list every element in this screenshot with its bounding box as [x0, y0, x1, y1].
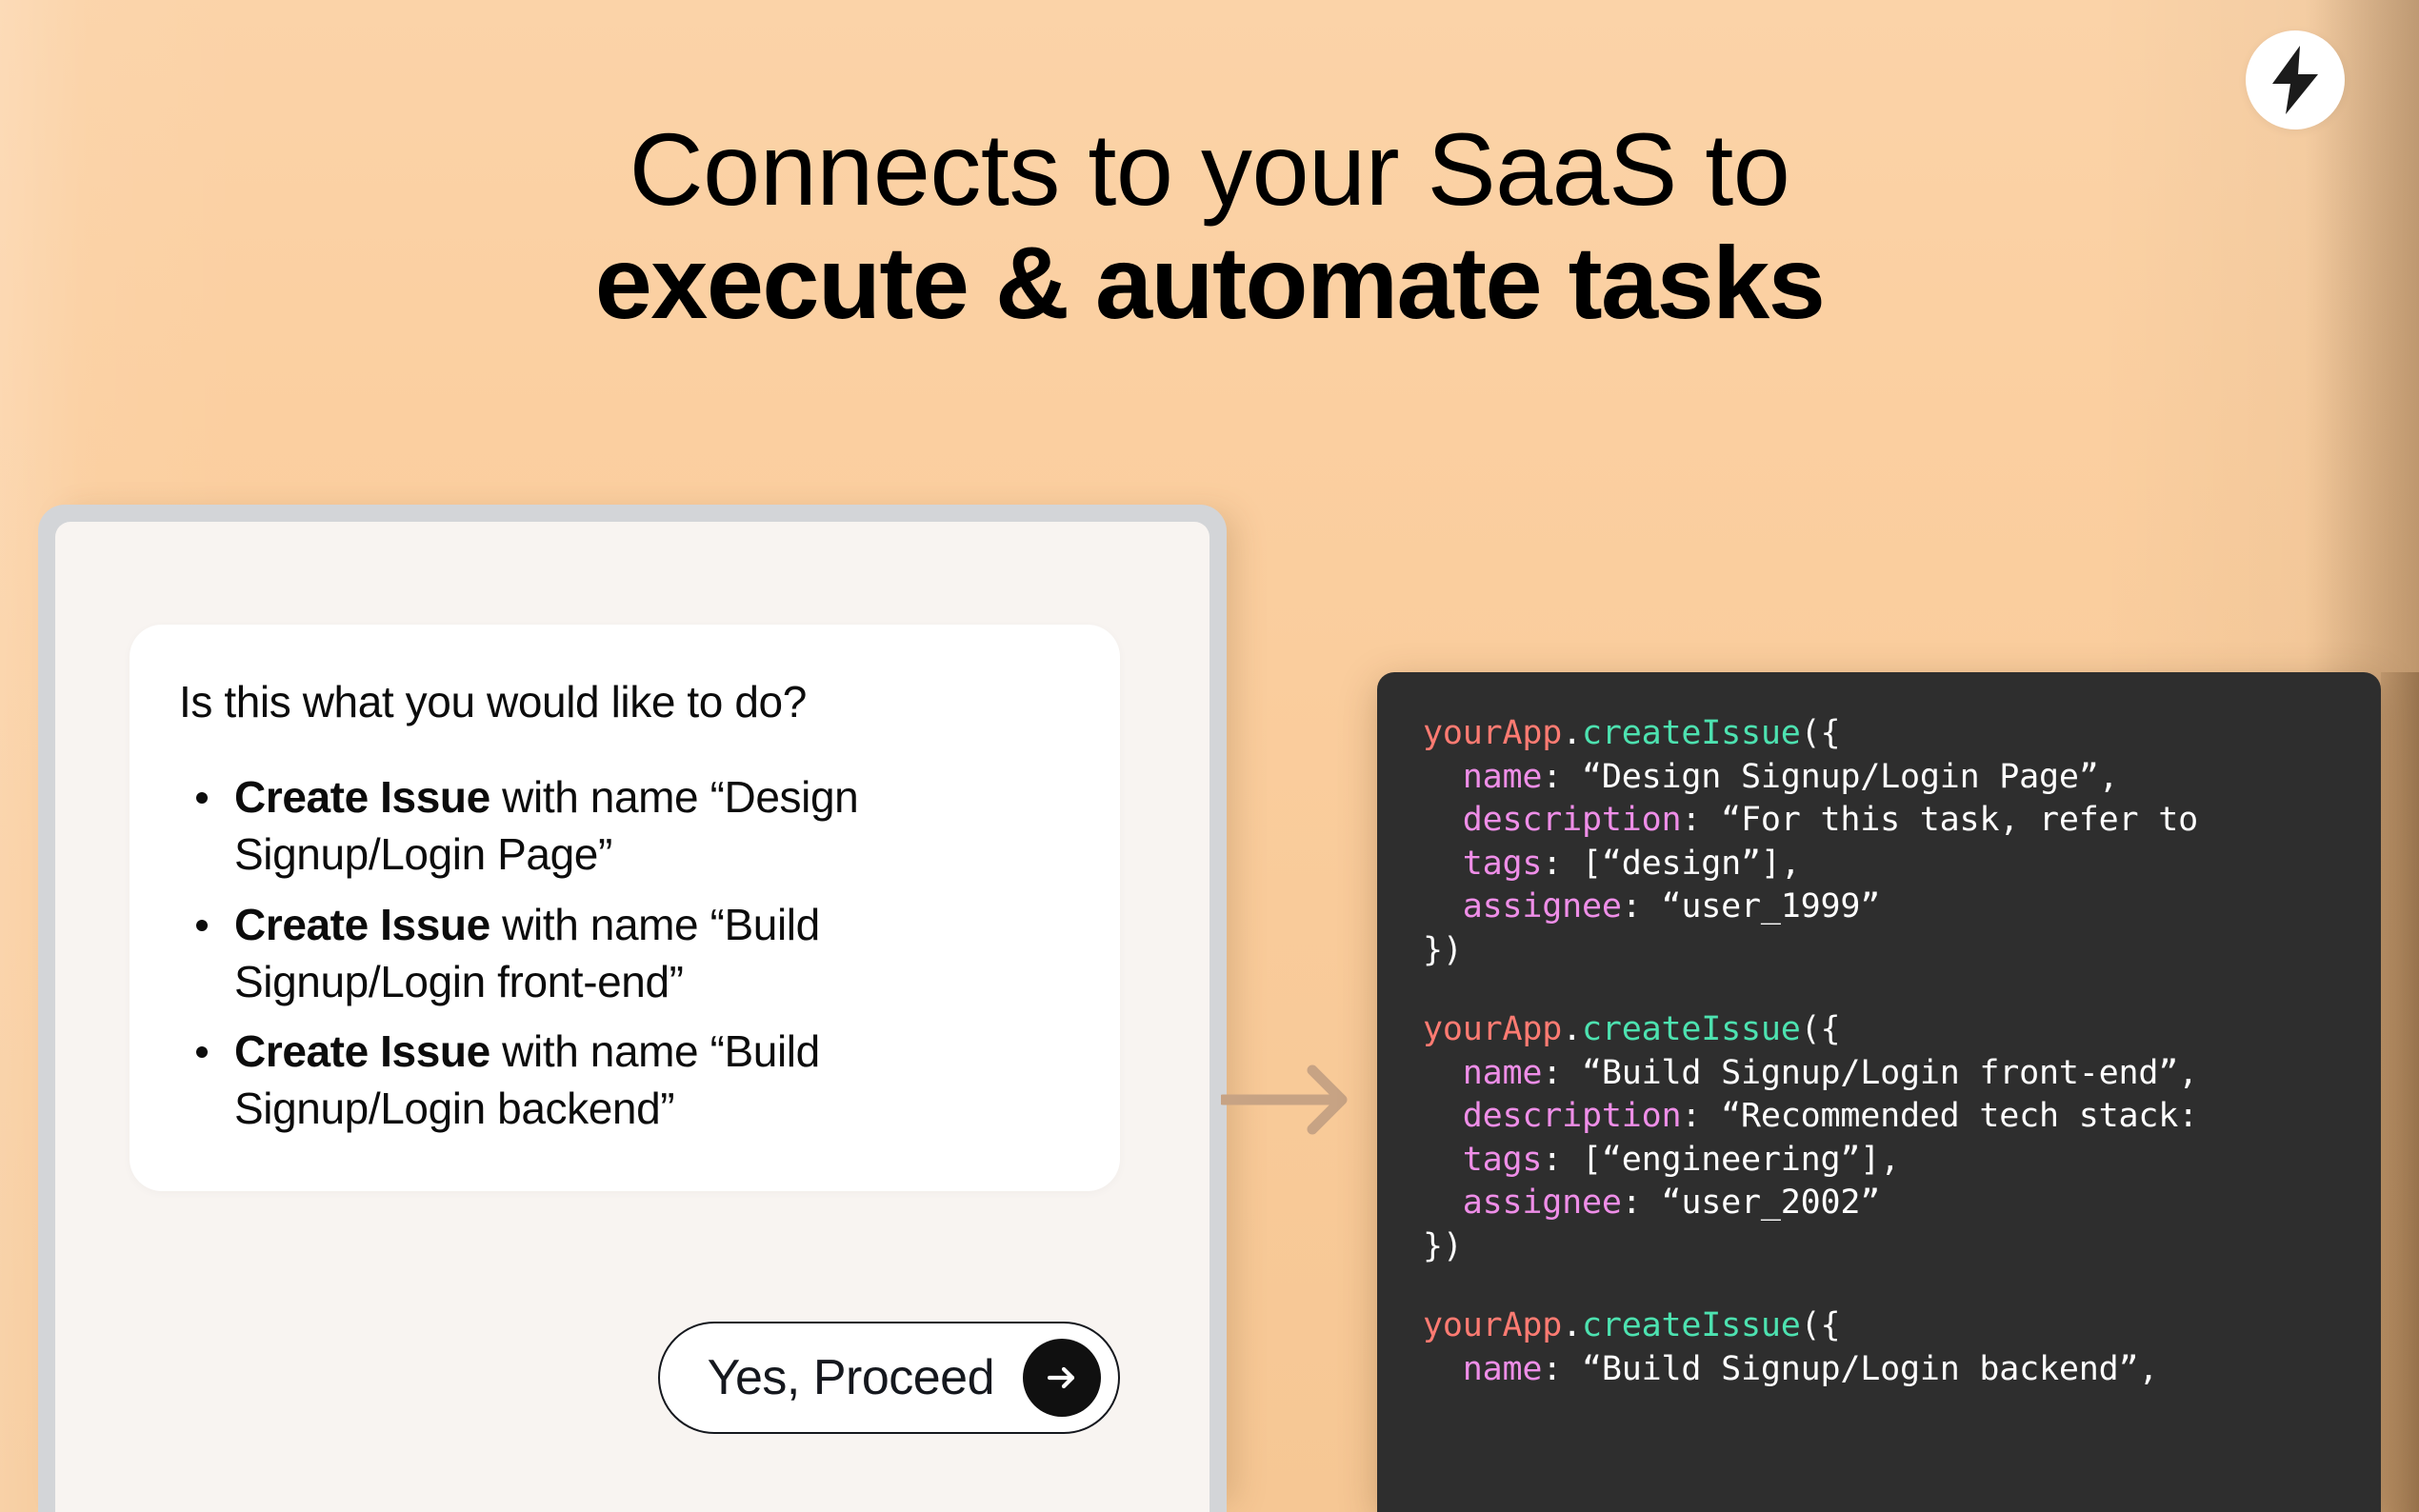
- code-indent: [1423, 887, 1463, 925]
- code-indent: [1423, 845, 1463, 883]
- proceed-button-label: Yes, Proceed: [708, 1353, 994, 1403]
- code-object-token: yourApp: [1423, 1306, 1562, 1344]
- task-list-item: Create Issue with name “Design Signup/Lo…: [179, 769, 1070, 884]
- task-list: Create Issue with name “Design Signup/Lo…: [179, 769, 1070, 1138]
- code-punctuation: :: [1622, 887, 1662, 925]
- code-punctuation: :: [1542, 1141, 1582, 1179]
- code-punctuation: .: [1562, 1010, 1582, 1048]
- code-property-value: “For this task, refer to: [1721, 801, 2198, 839]
- bullet-dot-icon: [196, 1046, 208, 1058]
- task-list-item: Create Issue with name “Build Signup/Log…: [179, 897, 1070, 1011]
- code-property-value: “user_1999”: [1661, 887, 1880, 925]
- chat-panel-surface: Is this what you would like to do? Creat…: [55, 522, 1209, 1512]
- code-indent: [1423, 758, 1463, 796]
- code-object-token: yourApp: [1423, 1010, 1562, 1048]
- code-property-key: assignee: [1463, 887, 1622, 925]
- code-indent: [1423, 801, 1463, 839]
- code-indent: [1423, 1184, 1463, 1222]
- code-punctuation: }): [1423, 931, 1463, 969]
- bullet-dot-icon: [196, 792, 208, 804]
- task-list-item: Create Issue with name “Build Signup/Log…: [179, 1024, 1070, 1138]
- flow-arrow-right-icon: [1221, 1047, 1358, 1152]
- code-punctuation: ({: [1801, 1306, 1841, 1344]
- code-indent: [1423, 1097, 1463, 1135]
- code-property-value: [“engineering”],: [1582, 1141, 1900, 1179]
- code-property-value: “Build Signup/Login front-end”,: [1582, 1054, 2198, 1092]
- confirmation-question: Is this what you would like to do?: [179, 676, 1070, 727]
- code-method-token: createIssue: [1582, 1010, 1801, 1048]
- code-property-key: tags: [1463, 1141, 1543, 1179]
- code-output-panel[interactable]: yourApp.createIssue({ name: “Design Sign…: [1377, 672, 2381, 1512]
- code-method-token: createIssue: [1582, 1306, 1801, 1344]
- headline-line-2: execute & automate tasks: [0, 226, 2419, 341]
- code-method-token: createIssue: [1582, 714, 1801, 752]
- code-statement: yourApp.createIssue({ name: “Build Signu…: [1423, 1008, 2381, 1268]
- code-punctuation: :: [1542, 1350, 1582, 1388]
- page-title: Connects to your SaaS to execute & autom…: [0, 114, 2419, 341]
- code-punctuation: .: [1562, 714, 1582, 752]
- code-property-key: name: [1463, 758, 1543, 796]
- code-property-key: tags: [1463, 845, 1543, 883]
- code-punctuation: .: [1562, 1306, 1582, 1344]
- code-punctuation: :: [1542, 758, 1582, 796]
- code-statement: yourApp.createIssue({ name: “Build Signu…: [1423, 1304, 2381, 1391]
- code-punctuation: ({: [1801, 1010, 1841, 1048]
- yes-proceed-button[interactable]: Yes, Proceed: [658, 1322, 1120, 1434]
- proceed-row: Yes, Proceed: [130, 1322, 1120, 1434]
- code-punctuation: }): [1423, 1227, 1463, 1265]
- bullet-dot-icon: [196, 920, 208, 931]
- arrow-right-icon: [1023, 1339, 1101, 1417]
- code-indent: [1423, 1141, 1463, 1179]
- code-property-value: “Design Signup/Login Page”,: [1582, 758, 2119, 796]
- task-action-label: Create Issue: [234, 900, 490, 949]
- code-object-token: yourApp: [1423, 714, 1562, 752]
- task-action-label: Create Issue: [234, 1026, 490, 1076]
- code-property-key: assignee: [1463, 1184, 1622, 1222]
- code-property-key: name: [1463, 1054, 1543, 1092]
- task-action-label: Create Issue: [234, 772, 490, 822]
- headline-line-1: Connects to your SaaS to: [0, 114, 2419, 226]
- code-property-key: description: [1463, 1097, 1682, 1135]
- code-property-value: “Recommended tech stack:: [1721, 1097, 2198, 1135]
- code-punctuation: :: [1622, 1184, 1662, 1222]
- code-property-key: description: [1463, 801, 1682, 839]
- code-property-value: “Build Signup/Login backend”,: [1582, 1350, 2158, 1388]
- code-punctuation: ({: [1801, 714, 1841, 752]
- code-indent: [1423, 1054, 1463, 1092]
- code-punctuation: :: [1681, 801, 1721, 839]
- code-property-value: [“design”],: [1582, 845, 1801, 883]
- code-punctuation: :: [1681, 1097, 1721, 1135]
- code-indent: [1423, 1350, 1463, 1388]
- lightning-bolt-icon: [2269, 46, 2322, 114]
- code-punctuation: :: [1542, 845, 1582, 883]
- code-punctuation: :: [1542, 1054, 1582, 1092]
- assistant-message-card: Is this what you would like to do? Creat…: [130, 625, 1120, 1191]
- chat-panel: Is this what you would like to do? Creat…: [38, 505, 1227, 1512]
- code-property-key: name: [1463, 1350, 1543, 1388]
- code-statement: yourApp.createIssue({ name: “Design Sign…: [1423, 712, 2381, 972]
- code-property-value: “user_2002”: [1661, 1184, 1880, 1222]
- code-scroll-area[interactable]: yourApp.createIssue({ name: “Design Sign…: [1377, 672, 2381, 1391]
